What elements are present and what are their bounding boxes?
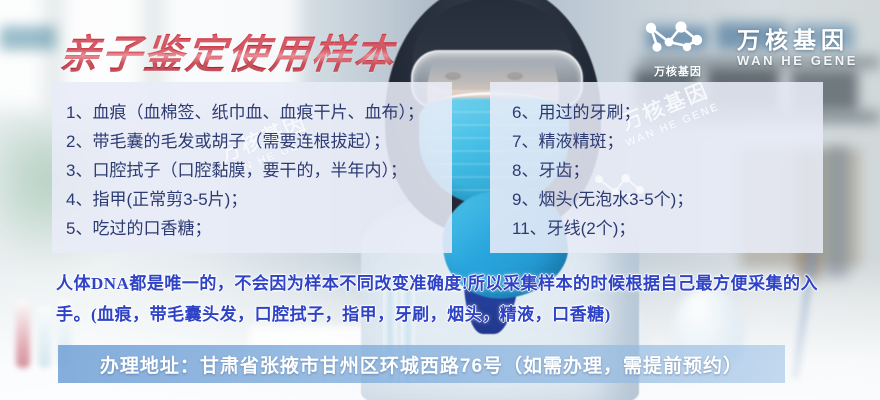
background-test-tube <box>16 300 30 368</box>
list-item: 5、吃过的口香糖； <box>66 214 452 243</box>
page-title: 亲子鉴定使用样本 <box>57 22 399 80</box>
brand-logo: 万核基因 万核基因 WAN HE GENE <box>641 16 858 79</box>
background-box <box>826 146 848 278</box>
sample-list-left: 1、血痕（血棉签、纸巾血、血痕干片、血布）； 2、带毛囊的毛发或胡子（需要连根拔… <box>52 82 452 243</box>
brand-name-cn: 万核基因 <box>737 27 858 53</box>
list-item: 2、带毛囊的毛发或胡子（需要连根拔起）； <box>66 127 452 156</box>
sample-list-right: 6、用过的牙刷； 7、精液精斑； 8、牙齿； 9、烟头(无泡水3-5个)； 11… <box>490 82 823 243</box>
logo-mark: 万核基因 <box>641 16 715 79</box>
list-item: 8、牙齿； <box>512 156 823 185</box>
address-text: 办理地址：甘肃省张掖市甘州区环城西路76号（如需办理，需提前预约） <box>100 351 743 378</box>
molecule-icon <box>641 16 715 60</box>
poster-canvas: 亲子鉴定使用样本 <box>0 0 880 400</box>
background-test-tube <box>38 306 51 368</box>
list-item: 4、指甲(正常剪3-5片)； <box>66 185 452 214</box>
sample-list-panel-left: 万核基因 WAN HE GENE 1、血痕（血棉签、纸巾血、血痕干片、血布）； … <box>52 82 452 253</box>
brand-name-en: WAN HE GENE <box>737 53 858 68</box>
logo-mark-label: 万核基因 <box>654 63 702 79</box>
brand-name-block: 万核基因 WAN HE GENE <box>737 27 858 68</box>
background-box <box>0 26 56 50</box>
address-bar: 办理地址：甘肃省张掖市甘州区环城西路76号（如需办理，需提前预约） <box>58 345 785 383</box>
list-item: 11、牙线(2个)； <box>512 214 823 243</box>
list-item: 6、用过的牙刷； <box>512 98 823 127</box>
sample-list-panel-right: 万核基因 WAN HE GENE 6、用过的牙刷； 7、精液精斑； 8、牙齿； … <box>490 82 823 253</box>
list-item: 7、精液精斑； <box>512 127 823 156</box>
list-item: 3、口腔拭子（口腔黏膜，要干的，半年内）； <box>66 156 452 185</box>
list-item: 9、烟头(无泡水3-5个)； <box>512 185 823 214</box>
dna-note-text: 人体DNA都是唯一的，不会因为样本不同改变准确度!所以采集样本的时候根据自己最方… <box>56 268 846 330</box>
list-item: 1、血痕（血棉签、纸巾血、血痕干片、血布）； <box>66 98 452 127</box>
